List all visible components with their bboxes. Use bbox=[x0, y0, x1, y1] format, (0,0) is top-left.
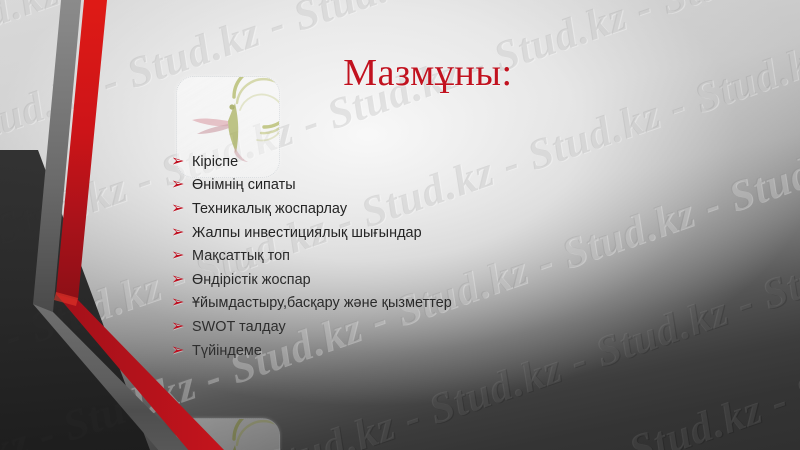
list-item-label: Кіріспе bbox=[192, 154, 238, 170]
hummingbird-logo-icon bbox=[176, 418, 280, 450]
arrow-bullet-icon: ➢ bbox=[170, 343, 192, 359]
list-item-label: Өндірістік жоспар bbox=[192, 272, 311, 288]
list-item: ➢ Техникалық жоспарлау bbox=[170, 197, 730, 221]
list-item-label: Жалпы инвестициялық шығындар bbox=[192, 225, 422, 241]
presentation-slide: Stud.kz - Stud.kz - Stud.kz - Stud.kz - … bbox=[0, 0, 800, 450]
arrow-bullet-icon: ➢ bbox=[170, 201, 192, 217]
list-item: ➢ Өнімнің сипаты bbox=[170, 174, 730, 198]
page-title: Мазмұны: bbox=[343, 51, 512, 95]
list-item-label: Ұйымдастыру,басқару және қызметтер bbox=[192, 295, 452, 311]
list-item: ➢ Түйіндеме bbox=[170, 339, 730, 363]
list-item: ➢ Жалпы инвестициялық шығындар bbox=[170, 221, 730, 245]
arrow-bullet-icon: ➢ bbox=[170, 225, 192, 241]
slide-title: Мазмұны: bbox=[0, 51, 800, 95]
list-item-label: SWOT талдау bbox=[192, 319, 286, 335]
arrow-bullet-icon: ➢ bbox=[170, 295, 192, 311]
list-item-label: Түйіндеме bbox=[192, 343, 262, 359]
list-item: ➢ Өндірістік жоспар bbox=[170, 268, 730, 292]
list-item-label: Мақсаттық топ bbox=[192, 248, 290, 264]
arrow-bullet-icon: ➢ bbox=[170, 272, 192, 288]
watermark-text: Stud.kz - Stud.kz - Stud.kz - Stud.kz - … bbox=[0, 367, 800, 450]
list-item-label: Өнімнің сипаты bbox=[192, 177, 296, 193]
arrow-bullet-icon: ➢ bbox=[170, 248, 192, 264]
hummingbird-glyph bbox=[177, 419, 279, 450]
arrow-bullet-icon: ➢ bbox=[170, 177, 192, 193]
list-item: ➢ SWOT талдау bbox=[170, 315, 730, 339]
list-item: ➢ Кіріспе bbox=[170, 150, 730, 174]
list-item: ➢ Мақсаттық топ bbox=[170, 244, 730, 268]
list-item-label: Техникалық жоспарлау bbox=[192, 201, 347, 217]
arrow-bullet-icon: ➢ bbox=[170, 319, 192, 335]
content-bullet-list: ➢ Кіріспе ➢ Өнімнің сипаты ➢ Техникалық … bbox=[170, 150, 730, 362]
arrow-bullet-icon: ➢ bbox=[170, 154, 192, 170]
list-item: ➢ Ұйымдастыру,басқару және қызметтер bbox=[170, 292, 730, 316]
